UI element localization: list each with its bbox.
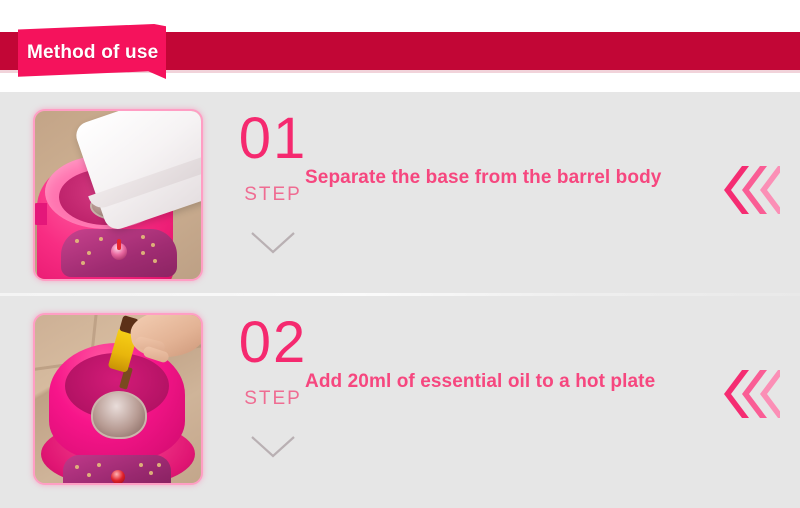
step-2-photo [33, 313, 203, 485]
step-1-photo [33, 109, 203, 281]
step-2-number-block: 02 STEP [218, 314, 328, 484]
triple-chevron-left-icon [720, 370, 780, 418]
step-number: 02 [218, 314, 328, 372]
step-headline: Separate the base from the barrel body [305, 167, 661, 189]
step-1-number-block: 01 STEP [218, 110, 328, 280]
triple-chevron-left-icon [720, 166, 780, 214]
chevron-down-icon [249, 230, 297, 261]
steps-container: 01 STEP Separate the base from the barre… [0, 92, 800, 508]
step-row-1: 01 STEP Separate the base from the barre… [0, 92, 800, 293]
step-number: 01 [218, 110, 328, 168]
step-headline: Add 20ml of essential oil to a hot plate [305, 371, 655, 393]
step-row-2: 02 STEP Add 20ml of essential oil to a h… [0, 296, 800, 497]
chevron-down-icon [249, 434, 297, 465]
page-title: Method of use [27, 42, 158, 64]
product-instruction-page: Method of use [0, 0, 800, 508]
header-banner: Method of use [0, 0, 800, 92]
